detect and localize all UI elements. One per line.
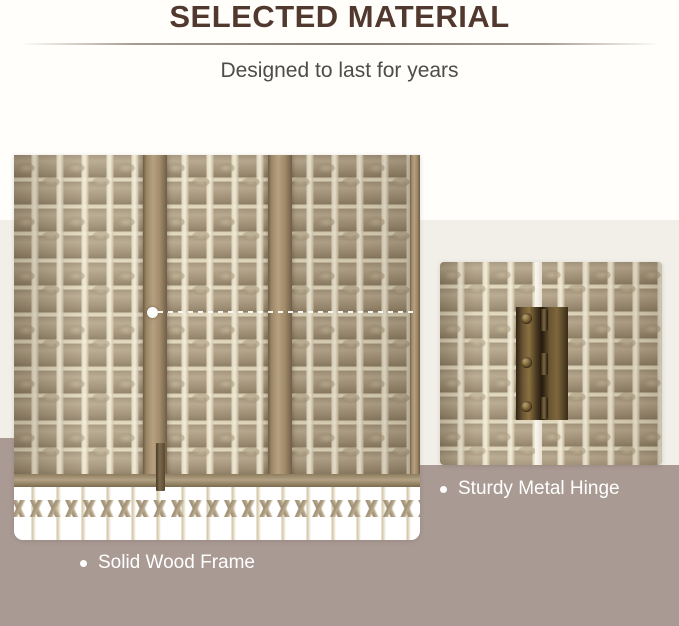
- dot-bullet-icon: [80, 560, 87, 567]
- hinge-closeup-photo: [440, 262, 662, 465]
- page-subtitle: Designed to last for years: [0, 57, 679, 85]
- inline-hinge-icon: [156, 443, 165, 491]
- feature-caption-sturdy-metal-hinge: Sturdy Metal Hinge: [440, 478, 620, 500]
- hinge-knuckle: [540, 309, 548, 331]
- metal-hinge-icon: [516, 307, 568, 420]
- zigzag-weave-row: [14, 500, 420, 517]
- hinge-screw-icon: [521, 313, 532, 324]
- feature-label: Sturdy Metal Hinge: [458, 478, 620, 500]
- product-photo-frame: [14, 155, 420, 540]
- hinge-knuckle: [540, 353, 548, 375]
- feature-label: Solid Wood Frame: [98, 552, 255, 574]
- panel-bottom-zone: [14, 474, 420, 540]
- hinge-knuckle: [540, 397, 548, 419]
- feature-caption-solid-wood-frame: Solid Wood Frame: [80, 552, 255, 574]
- wood-bottom-rail: [14, 474, 420, 487]
- hinge-screw-icon: [521, 357, 532, 368]
- frame-callout-point: [147, 307, 158, 318]
- frame-callout-dashed-line: [158, 311, 416, 313]
- hinge-screw-icon: [521, 401, 532, 412]
- page-title: SELECTED MATERIAL: [0, 0, 679, 34]
- dot-bullet-icon: [440, 486, 447, 493]
- header-divider: [20, 43, 659, 45]
